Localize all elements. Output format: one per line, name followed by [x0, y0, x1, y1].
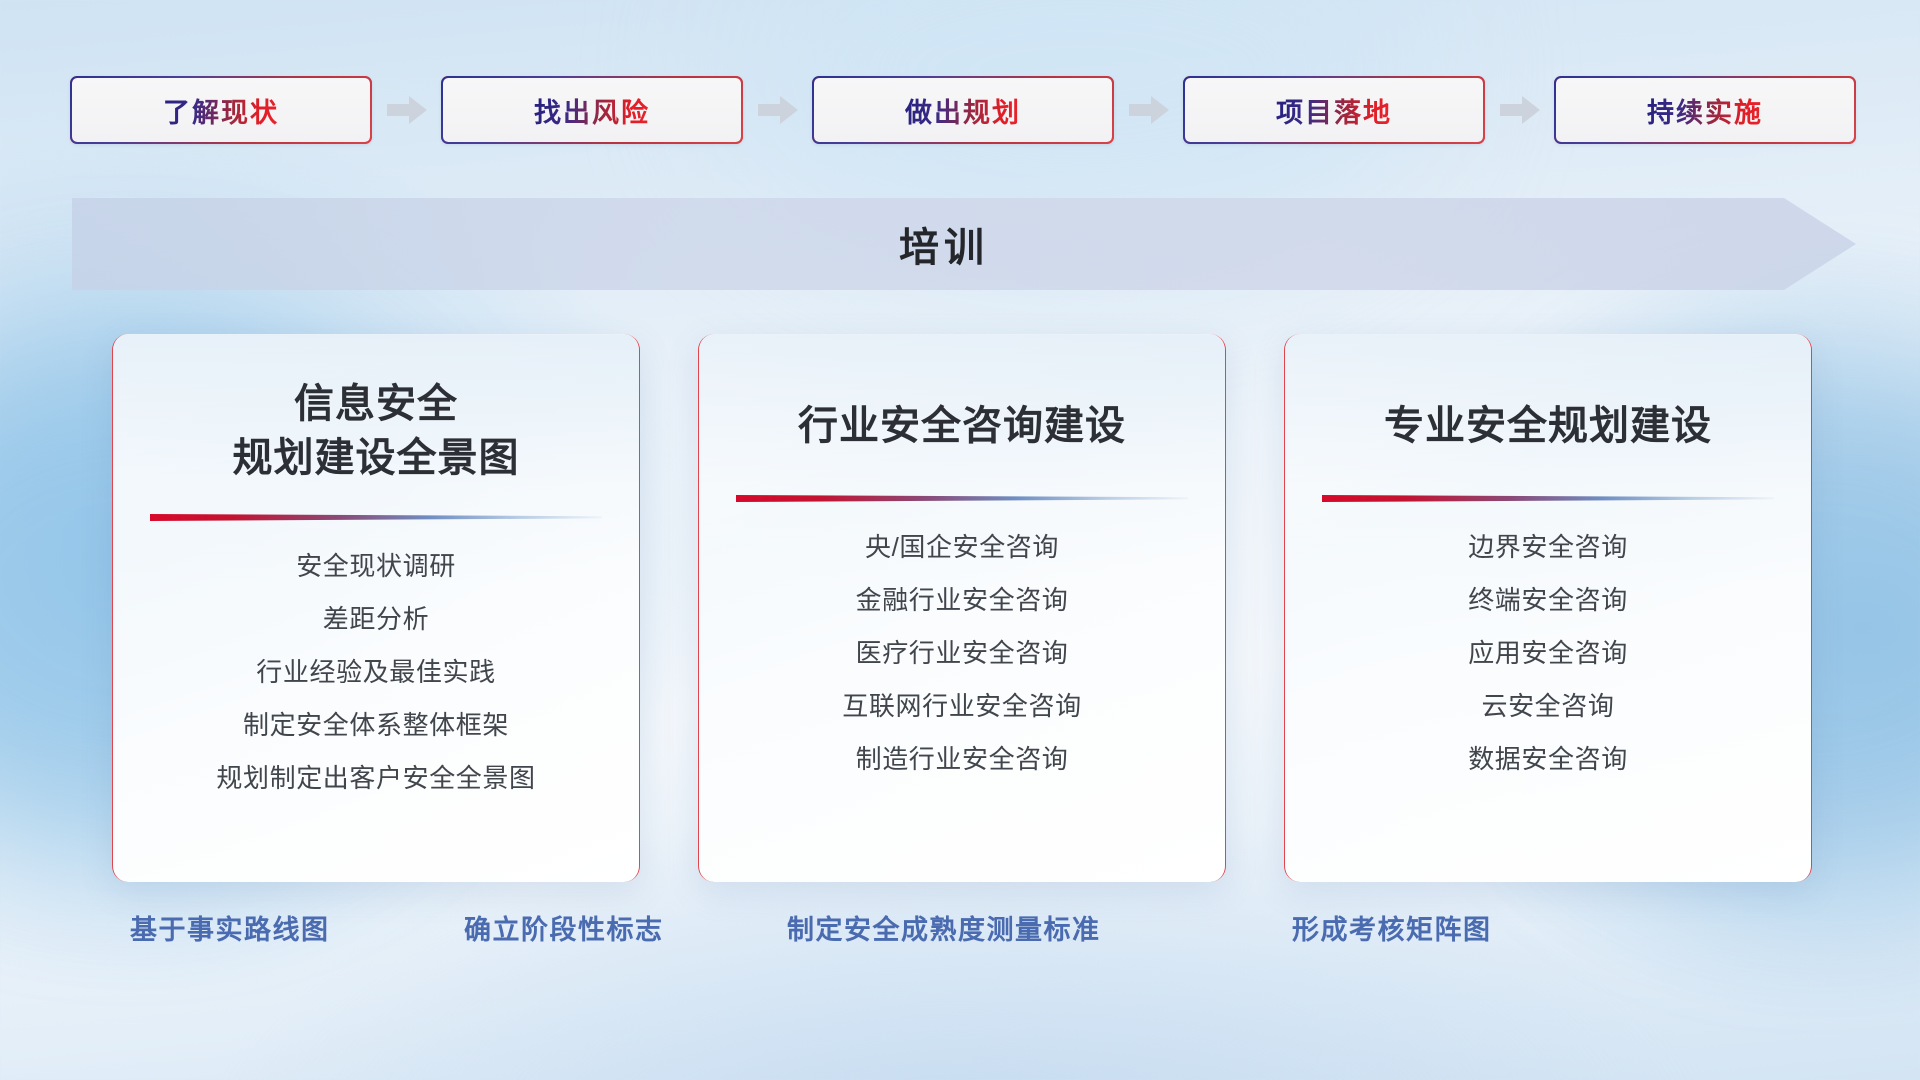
card-item-list: 安全现状调研 差距分析 行业经验及最佳实践 制定安全体系整体框架 规划制定出客户…: [113, 553, 639, 791]
step-label: 持续实施: [1647, 91, 1763, 130]
step-chip-1[interactable]: 找出风险: [441, 76, 743, 144]
card-title: 专业安全规划建设: [1358, 400, 1738, 454]
list-item: 应用安全咨询: [1303, 640, 1793, 666]
footer-label-maturity-standard: 制定安全成熟度测量标准: [787, 908, 1101, 947]
list-item: 央/国企安全咨询: [717, 534, 1207, 560]
card-divider: [736, 492, 1188, 504]
list-item: 云安全咨询: [1303, 693, 1793, 719]
list-item: 医疗行业安全咨询: [717, 640, 1207, 666]
step-chip-0[interactable]: 了解现状: [70, 76, 372, 144]
list-item: 行业经验及最佳实践: [131, 659, 621, 685]
step-chip-4[interactable]: 持续实施: [1554, 76, 1856, 144]
arrow-right-icon: [757, 95, 799, 125]
list-item: 规划制定出客户安全全景图: [131, 765, 621, 791]
arrow-right-icon: [386, 95, 428, 125]
card-title: 行业安全咨询建设: [772, 400, 1152, 454]
list-item: 金融行业安全咨询: [717, 587, 1207, 613]
step-label: 了解现状: [163, 91, 279, 130]
step-label: 找出风险: [534, 91, 650, 130]
cards-row: 信息安全 规划建设全景图 安全现状调研 差距分析 行: [112, 334, 1812, 882]
list-item: 终端安全咨询: [1303, 587, 1793, 613]
card-item-list: 边界安全咨询 终端安全咨询 应用安全咨询 云安全咨询 数据安全咨询: [1285, 534, 1811, 772]
list-item: 制造行业安全咨询: [717, 746, 1207, 772]
footer-label-assessment-matrix: 形成考核矩阵图: [1292, 908, 1492, 947]
list-item: 互联网行业安全咨询: [717, 693, 1207, 719]
step-chip-3[interactable]: 项目落地: [1183, 76, 1485, 144]
step-label: 项目落地: [1276, 91, 1392, 130]
arrow-right-icon: [1128, 95, 1170, 125]
footer-label-roadmap: 基于事实路线图: [130, 908, 330, 947]
footer-label-row: 基于事实路线图 确立阶段性标志 制定安全成熟度测量标准 形成考核矩阵图: [0, 908, 1920, 966]
card-divider: [1322, 492, 1774, 504]
step-chip-2[interactable]: 做出规划: [812, 76, 1114, 144]
footer-label-milestones: 确立阶段性标志: [464, 908, 664, 947]
list-item: 数据安全咨询: [1303, 746, 1793, 772]
list-item: 安全现状调研: [131, 553, 621, 579]
card-divider: [150, 511, 602, 523]
process-step-row: 了解现状 找出风险 做出规划 项目落地 持续实施: [70, 74, 1856, 146]
card-info-security-blueprint[interactable]: 信息安全 规划建设全景图 安全现状调研 差距分析 行: [112, 334, 640, 882]
list-item: 差距分析: [131, 606, 621, 632]
banner-title: 培训: [72, 198, 1856, 290]
card-industry-security-consulting[interactable]: 行业安全咨询建设 央/国企安全咨询 金融行业安全咨询: [698, 334, 1226, 882]
arrow-right-icon: [1499, 95, 1541, 125]
list-item: 制定安全体系整体框架: [131, 712, 621, 738]
training-banner: 培训: [72, 198, 1856, 290]
card-item-list: 央/国企安全咨询 金融行业安全咨询 医疗行业安全咨询 互联网行业安全咨询 制造行…: [699, 534, 1225, 772]
card-professional-security-planning[interactable]: 专业安全规划建设 边界安全咨询 终端安全咨询 应用安: [1284, 334, 1812, 882]
list-item: 边界安全咨询: [1303, 534, 1793, 560]
step-label: 做出规划: [905, 91, 1021, 130]
card-title: 信息安全 规划建设全景图: [207, 378, 546, 485]
